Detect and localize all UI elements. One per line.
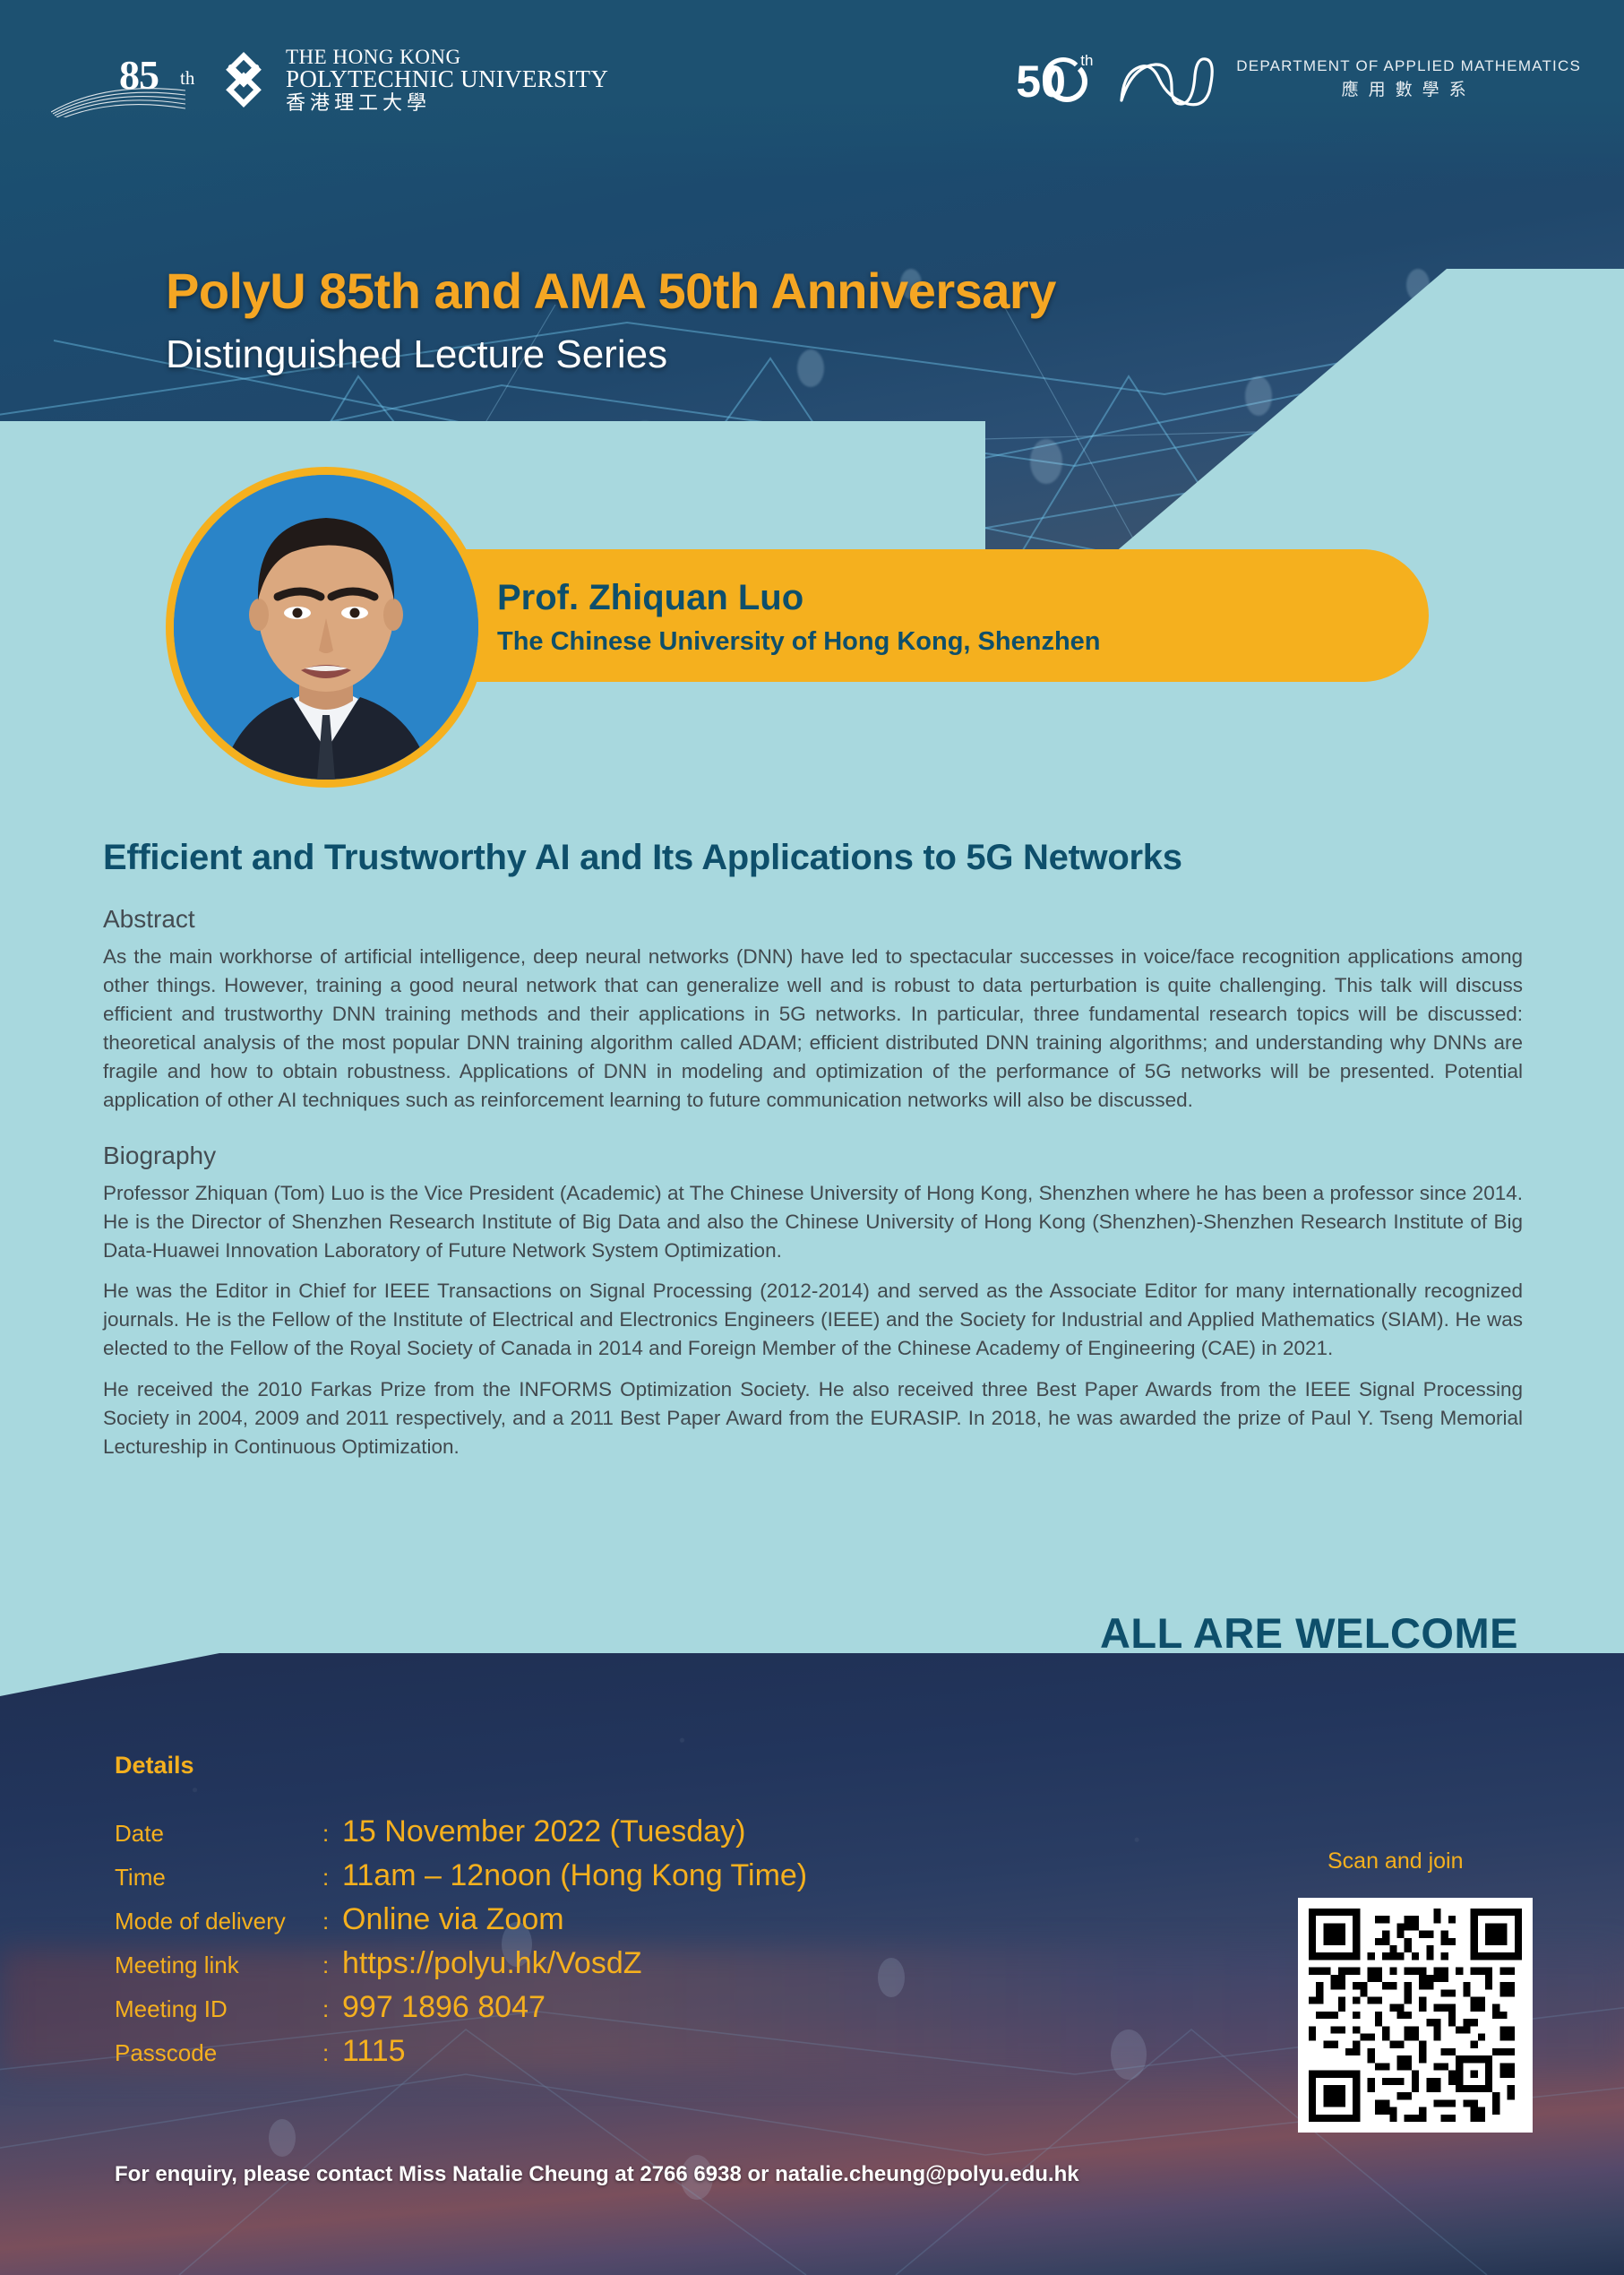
- lecture-title: Efficient and Trustworthy AI and Its App…: [103, 838, 1523, 878]
- ama-50th-anniversary-mark: 50 th: [1016, 47, 1102, 111]
- speaker-photo-ring: [166, 467, 486, 788]
- polyu-line1: THE HONG KONG: [286, 47, 608, 67]
- ama-logo: 50 th DEPARTMENT OF APPLIED MATHEMATICS …: [1016, 47, 1581, 111]
- details-heading: Details: [115, 1752, 194, 1779]
- details-row-time: Time : 11am – 12noon (Hong Kong Time): [115, 1858, 807, 1893]
- anniversary-ring-inner: [1043, 57, 1084, 99]
- event-title: PolyU 85th and AMA 50th Anniversary: [166, 262, 1056, 320]
- details-value-passcode: 1115: [342, 2034, 406, 2069]
- polyu-wordmark: THE HONG KONG POLYTECHNIC UNIVERSITY 香港理…: [286, 47, 608, 113]
- details-label-date: Date: [115, 1820, 322, 1848]
- speaker-portrait-illustration: [174, 475, 478, 780]
- swoosh-icon: [51, 76, 185, 117]
- details-colon: :: [322, 2039, 342, 2067]
- details-label-time: Time: [115, 1864, 322, 1892]
- enquiry-footer: For enquiry, please contact Miss Natalie…: [115, 2162, 1079, 2187]
- event-subtitle: Distinguished Lecture Series: [166, 332, 1056, 377]
- details-value-mode: Online via Zoom: [342, 1902, 564, 1937]
- details-table: Date : 15 November 2022 (Tuesday) Time :…: [115, 1814, 807, 2078]
- polyu-line3-chinese: 香港理工大學: [286, 93, 608, 113]
- speaker-affiliation: The Chinese University of Hong Kong, She…: [497, 627, 1101, 657]
- details-row-passcode: Passcode : 1115: [115, 2034, 807, 2069]
- main-content: Efficient and Trustworthy AI and Its App…: [103, 838, 1523, 1474]
- details-label-mode: Mode of delivery: [115, 1908, 322, 1935]
- poster-root: 85 th THE HONG KONG POLYTECHNIC UNIVERSI…: [0, 0, 1624, 2275]
- ama-dept-zh: 應用數學系: [1236, 78, 1581, 104]
- details-label-meeting-id: Meeting ID: [115, 1995, 322, 2023]
- details-label-passcode: Passcode: [115, 2039, 322, 2067]
- event-title-block: PolyU 85th and AMA 50th Anniversary Dist…: [166, 262, 1056, 377]
- polyu-logo: 85 th THE HONG KONG POLYTECHNIC UNIVERSI…: [85, 47, 608, 113]
- ama-wordmark: DEPARTMENT OF APPLIED MATHEMATICS 應用數學系: [1236, 55, 1581, 103]
- ama-curve-icon: [1116, 48, 1222, 109]
- details-colon: :: [322, 1864, 342, 1892]
- polyu-85th-anniversary-mark: 85 th: [85, 47, 202, 112]
- abstract-heading: Abstract: [103, 905, 1523, 934]
- bokeh-dot: [1245, 376, 1272, 416]
- details-colon: :: [322, 1952, 342, 1979]
- anniversary-suffix-50: th: [1080, 52, 1093, 70]
- details-value-time: 11am – 12noon (Hong Kong Time): [342, 1858, 807, 1893]
- details-colon: :: [322, 1995, 342, 2023]
- qr-code-image: [1309, 1909, 1522, 2122]
- ama-dept-en: DEPARTMENT OF APPLIED MATHEMATICS: [1236, 55, 1581, 78]
- qr-code[interactable]: [1298, 1898, 1533, 2133]
- poster-header: 85 th THE HONG KONG POLYTECHNIC UNIVERSI…: [0, 0, 1624, 152]
- biography-heading: Biography: [103, 1142, 1523, 1170]
- details-value-meeting-link[interactable]: https://polyu.hk/VosdZ: [342, 1946, 642, 1981]
- details-label-meeting-link: Meeting link: [115, 1952, 322, 1979]
- details-value-date: 15 November 2022 (Tuesday): [342, 1814, 745, 1849]
- details-row-mode: Mode of delivery : Online via Zoom: [115, 1902, 807, 1937]
- details-row-meeting-id: Meeting ID : 997 1896 8047: [115, 1990, 807, 2025]
- details-value-meeting-id: 997 1896 8047: [342, 1990, 546, 2025]
- abstract-text: As the main workhorse of artificial inte…: [103, 943, 1523, 1115]
- details-colon: :: [322, 1820, 342, 1848]
- details-row-meeting-link: Meeting link : https://polyu.hk/VosdZ: [115, 1946, 807, 1981]
- bokeh-dot: [1030, 439, 1062, 484]
- speaker-photo: [166, 467, 486, 788]
- polyu-knot-icon: [212, 48, 275, 111]
- details-row-date: Date : 15 November 2022 (Tuesday): [115, 1814, 807, 1849]
- details-colon: :: [322, 1908, 342, 1935]
- speaker-name: Prof. Zhiquan Luo: [497, 578, 803, 618]
- anniversary-suffix: th: [180, 67, 194, 90]
- all-are-welcome-banner: ALL ARE WELCOME: [1100, 1608, 1518, 1658]
- biography-paragraph-1: Professor Zhiquan (Tom) Luo is the Vice …: [103, 1179, 1523, 1265]
- biography-paragraph-2: He was the Editor in Chief for IEEE Tran…: [103, 1277, 1523, 1363]
- scan-and-join-label: Scan and join: [1328, 1848, 1464, 1874]
- anniversary-number: 85: [119, 51, 159, 99]
- polyu-line2: POLYTECHNIC UNIVERSITY: [286, 67, 608, 92]
- biography-paragraph-3: He received the 2010 Farkas Prize from t…: [103, 1375, 1523, 1461]
